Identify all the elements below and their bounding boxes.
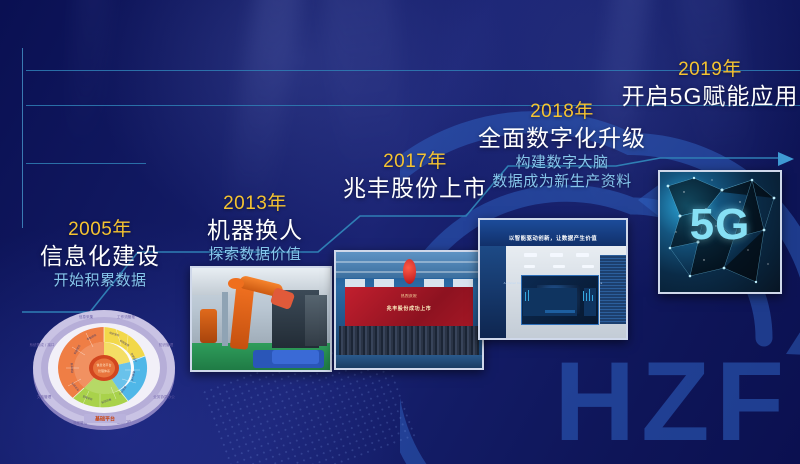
stage-year-2019: 2019年 bbox=[620, 58, 800, 82]
stage-title-2018: 全面数字化升级 bbox=[462, 124, 662, 153]
timeline-infographic: HZF 2005年 信息化建设 开始积累数据 bbox=[0, 0, 800, 464]
stage-subtitle-2013: 探索数据价值 bbox=[175, 245, 335, 264]
svg-text:系统集成 / 接口: 系统集成 / 接口 bbox=[29, 342, 54, 347]
image-2017-ipo-ceremony: 热烈庆祝 兆丰股份成功上市 bbox=[334, 250, 484, 370]
stage-text-2018: 2018年 全面数字化升级 构建数字大脑 数据成为新生产资料 bbox=[462, 100, 662, 191]
stage-title-2005: 信息化建设 bbox=[20, 242, 180, 271]
stage-text-2019: 2019年 开启5G赋能应用 bbox=[620, 58, 800, 111]
light-streak bbox=[62, 0, 112, 161]
stage-subtitle-2018-line1: 构建数字大脑 bbox=[462, 153, 662, 172]
svg-text:工作流管理: 工作流管理 bbox=[117, 314, 135, 319]
five-g-label: 5G bbox=[660, 203, 780, 247]
watermark-text: HZF bbox=[554, 346, 790, 458]
image-2019-5g-network: 5G bbox=[658, 170, 782, 294]
svg-text:管理体系: 管理体系 bbox=[98, 368, 110, 373]
stage-title-2019: 开启5G赋能应用 bbox=[620, 82, 800, 111]
stage-year-2013: 2013年 bbox=[175, 192, 335, 216]
stage-text-2005: 2005年 信息化建设 开始积累数据 bbox=[20, 218, 180, 290]
guide-line-lower bbox=[26, 163, 146, 164]
management-wheel-diagram: 信息采集 工作流管理 知识管理 业务协同办公 企业门户 流程管理 文档管理 系统… bbox=[28, 302, 180, 434]
svg-text:档案管理: 档案管理 bbox=[70, 362, 74, 373]
image-2005-management-wheel: 信息采集 工作流管理 知识管理 业务协同办公 企业门户 流程管理 文档管理 系统… bbox=[28, 302, 180, 434]
stage-text-2013: 2013年 机器换人 探索数据价值 bbox=[175, 192, 335, 264]
exhibition-banner-cn: 以智能驱动创新，让数据产生价值 bbox=[480, 234, 626, 242]
svg-text:知识管理: 知识管理 bbox=[159, 342, 174, 347]
image-2018-exhibition-hall: 以智能驱动创新，让数据产生价值 Artificial Intelligence … bbox=[478, 218, 628, 340]
ceremony-caption-line1: 热烈庆祝 bbox=[336, 294, 482, 299]
svg-text:信息采集: 信息采集 bbox=[79, 314, 94, 319]
stage-year-2005: 2005年 bbox=[20, 218, 180, 242]
stage-title-2013: 机器换人 bbox=[175, 216, 335, 245]
stage-subtitle-2005: 开始积累数据 bbox=[20, 271, 180, 290]
svg-text:业务协同办公: 业务协同办公 bbox=[153, 394, 175, 399]
image-2013-robot-arm bbox=[190, 266, 332, 372]
ceremony-caption-line2: 兆丰股份成功上市 bbox=[336, 305, 482, 312]
svg-text:基础平台: 基础平台 bbox=[94, 416, 115, 423]
svg-text:信息化平台: 信息化平台 bbox=[96, 362, 111, 367]
vertical-axis-line bbox=[22, 48, 23, 228]
svg-text:文档管理: 文档管理 bbox=[37, 394, 52, 399]
stage-subtitle-2018-line2: 数据成为新生产资料 bbox=[462, 172, 662, 191]
